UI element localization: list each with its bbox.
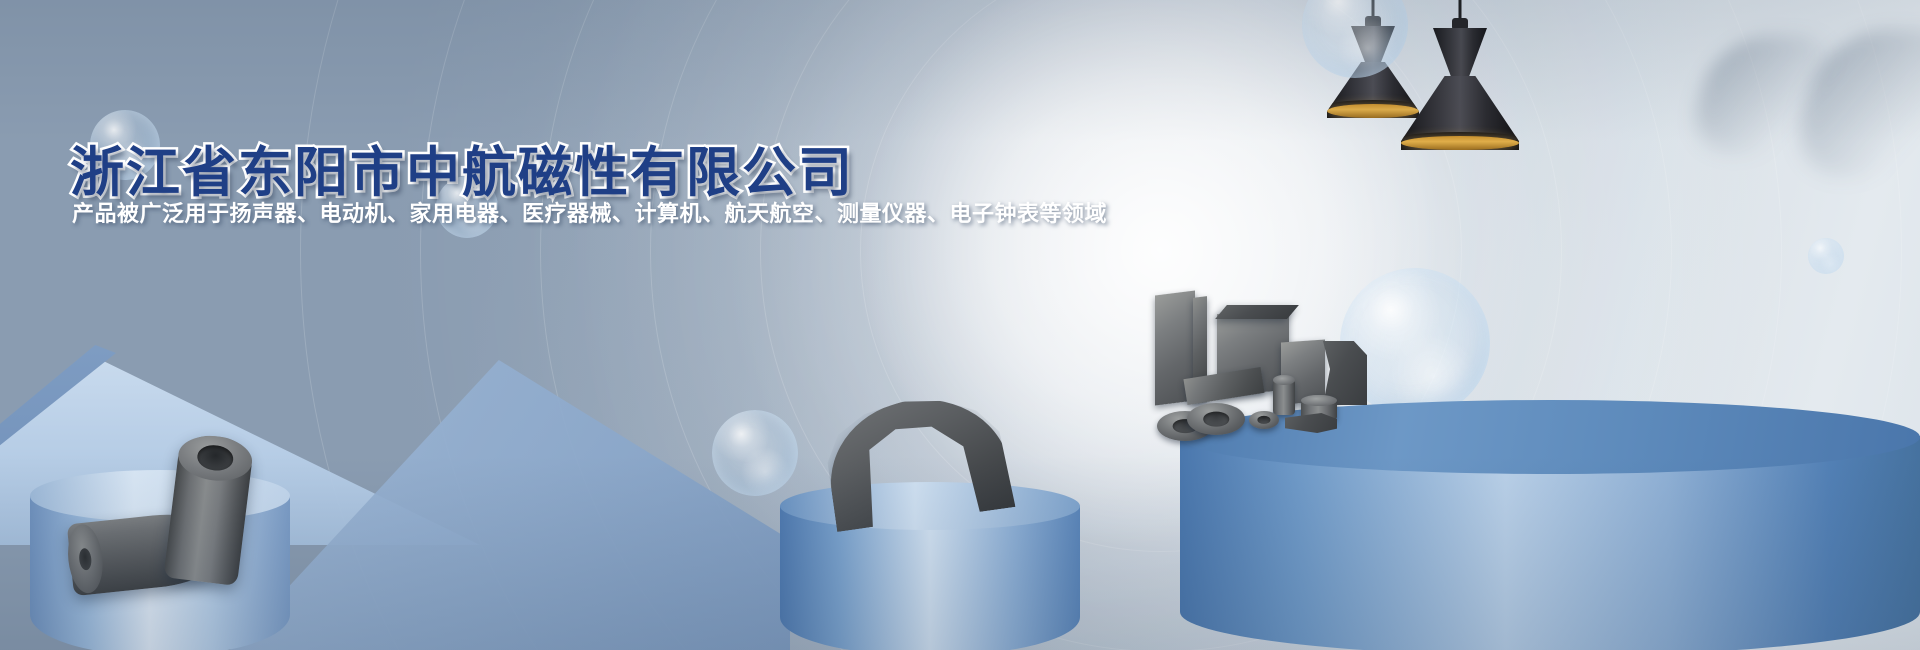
page-subtitle: 产品被广泛用于扬声器、电动机、家用电器、医疗器械、计算机、航天航空、测量仪器、电… bbox=[72, 196, 1107, 228]
hero-banner: 浙江省东阳市中航磁性有限公司 产品被广泛用于扬声器、电动机、家用电器、医疗器械、… bbox=[0, 0, 1920, 650]
background-vignette bbox=[0, 0, 1920, 650]
